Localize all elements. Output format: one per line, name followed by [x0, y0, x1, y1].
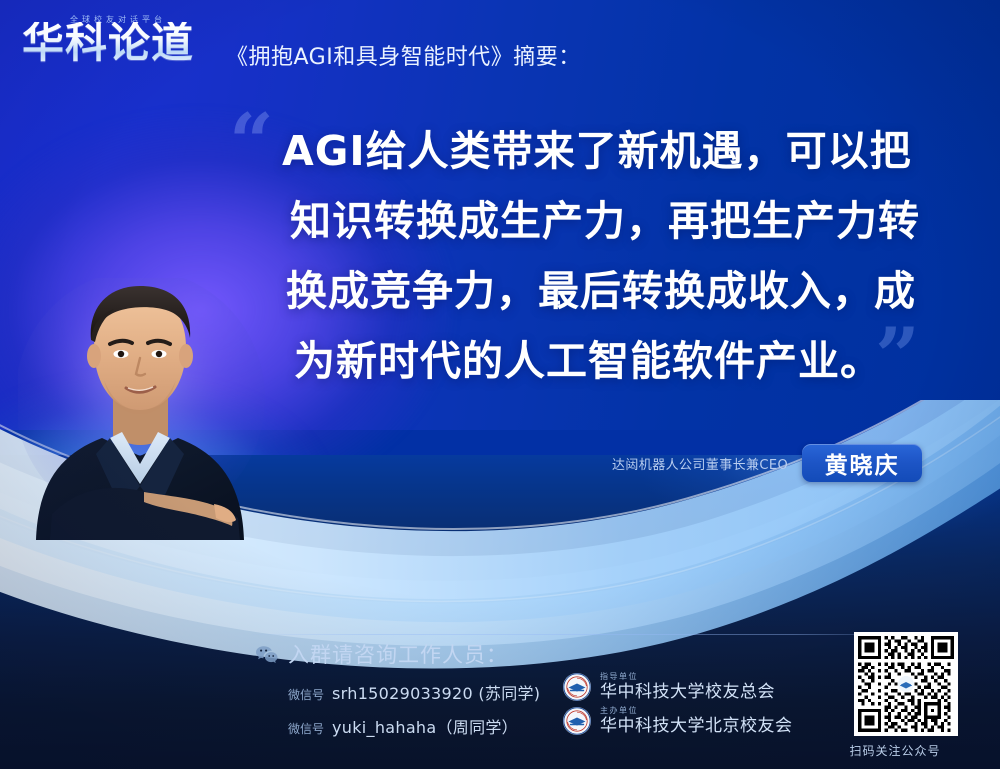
quote-line: 知识转换成生产力，再把生产力转 [290, 186, 936, 256]
footer-heading: 入群请咨询工作人员： [288, 639, 508, 669]
quote-line: 为新时代的人工智能软件产业。 [294, 326, 936, 396]
attribution: 达闼机器人公司董事长兼CEO 黄晓庆 [612, 445, 922, 481]
quote-text: AGI给人类带来了新机遇，可以把 知识转换成生产力，再把生产力转 换成竞争力，最… [276, 116, 936, 396]
organizer-role: 指导单位 [600, 672, 775, 682]
contact-row: 微信号 srh15029033920 (苏同学) [288, 680, 540, 704]
speaker-portrait [18, 278, 268, 546]
contact-label: 微信号 [288, 686, 324, 703]
speaker-name-badge: 黄晓庆 [802, 444, 922, 482]
poster-header: 全球校友对话平台 华科论道 《拥抱AGI和具身智能时代》摘要： [0, 0, 1000, 92]
contact-value: yuki_hahaha（周同学） [332, 714, 518, 738]
qr-block: 扫码关注公众号 [843, 632, 969, 754]
university-seal-icon [562, 672, 592, 702]
qr-code-icon[interactable] [854, 632, 958, 736]
contact-label: 微信号 [288, 720, 324, 737]
quote-line: AGI给人类带来了新机遇，可以把 [282, 116, 936, 186]
brand-logo[interactable]: 全球校友对话平台 华科论道 [22, 14, 218, 76]
contact-value: srh15029033920 (苏同学) [332, 680, 540, 704]
organizer-text: 主办单位 华中科技大学北京校友会 [600, 706, 793, 736]
quote-open-mark: “ [229, 104, 274, 182]
wechat-icon [255, 645, 279, 665]
quote-line: 换成竞争力，最后转换成收入，成 [286, 256, 936, 326]
organizer-name: 华中科技大学校友总会 [600, 682, 775, 702]
organizer-row: 主办单位 华中科技大学北京校友会 [562, 706, 793, 736]
poster-canvas: 全球校友对话平台 华科论道 《拥抱AGI和具身智能时代》摘要： “ AGI给人类… [0, 0, 1000, 769]
page-title: 《拥抱AGI和具身智能时代》摘要： [226, 39, 581, 71]
footer-divider [252, 634, 912, 635]
organizer-name: 华中科技大学北京校友会 [600, 716, 793, 736]
university-seal-icon [562, 706, 592, 736]
qr-caption: 扫码关注公众号 [843, 742, 947, 759]
organizer-row: 指导单位 华中科技大学校友总会 [562, 672, 775, 702]
quote-close-mark: ” [875, 318, 920, 396]
brand-logo-text: 华科论道 [22, 22, 194, 64]
organizer-role: 主办单位 [600, 706, 793, 716]
contact-row: 微信号 yuki_hahaha（周同学） [288, 714, 518, 738]
speaker-role: 达闼机器人公司董事长兼CEO [612, 454, 788, 473]
organizer-text: 指导单位 华中科技大学校友总会 [600, 672, 775, 702]
